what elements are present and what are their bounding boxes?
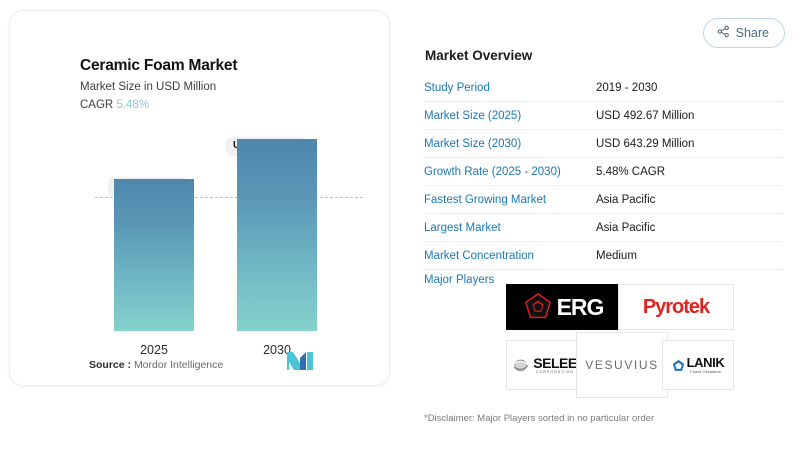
- table-row: Market Concentration Medium: [424, 242, 782, 270]
- vesuvius-wordmark: VESUVIUS: [585, 358, 659, 372]
- row-key: Growth Rate (2025 - 2030): [424, 166, 596, 178]
- bar-2025[interactable]: [114, 179, 194, 331]
- table-row: Market Size (2025) USD 492.67 Million: [424, 102, 782, 130]
- page-title: Ceramic Foam Market: [80, 57, 237, 75]
- bar-2030[interactable]: [237, 139, 317, 331]
- share-button[interactable]: Share: [703, 18, 785, 48]
- pyrotek-logo: Pyrotek: [618, 284, 734, 330]
- row-value: Asia Pacific: [596, 194, 655, 206]
- row-key: Largest Market: [424, 222, 596, 234]
- source-value: Mordor Intelligence: [134, 359, 223, 371]
- table-row: Market Size (2030) USD 643.29 Million: [424, 130, 782, 158]
- selee-sphere-icon: [513, 358, 530, 373]
- row-value: USD 492.67 Million: [596, 110, 694, 122]
- table-row: Largest Market Asia Pacific: [424, 214, 782, 242]
- row-key: Market Concentration: [424, 250, 596, 262]
- lanik-star-icon: [672, 359, 685, 372]
- selee-wordmark: SELEE: [533, 356, 576, 370]
- row-value: 2019 - 2030: [596, 82, 657, 94]
- vesuvius-logo: VESUVIUS: [576, 332, 668, 398]
- pyrotek-wordmark: Pyrotek: [643, 296, 709, 319]
- table-row: Fastest Growing Market Asia Pacific: [424, 186, 782, 214]
- row-value: 5.48% CAGR: [596, 166, 665, 178]
- cagr-label: CAGR: [80, 99, 113, 111]
- row-value: Asia Pacific: [596, 222, 655, 234]
- market-overview-table: Study Period 2019 - 2030 Market Size (20…: [424, 74, 782, 270]
- bar-chart-plot: USD 492.67 M USD 643.29 M 2025 2030: [30, 123, 371, 363]
- share-nodes-icon: [717, 25, 730, 41]
- row-key: Fastest Growing Market: [424, 194, 596, 206]
- row-value: USD 643.29 Million: [596, 138, 694, 150]
- source-text: Source : Mordor Intelligence: [89, 359, 223, 371]
- table-row: Study Period 2019 - 2030: [424, 74, 782, 102]
- row-key: Study Period: [424, 82, 596, 94]
- chart-cagr: CAGR 5.48%: [80, 99, 149, 111]
- lanik-wordmark: LANIK: [687, 356, 725, 369]
- table-row: Growth Rate (2025 - 2030) 5.48% CAGR: [424, 158, 782, 186]
- lanik-subtitle: Foam Ceramics: [687, 369, 725, 374]
- lanik-logo: LANIK Foam Ceramics: [662, 340, 734, 390]
- source-label: Source :: [89, 359, 131, 371]
- erg-wordmark: ERG: [557, 294, 604, 321]
- major-players-label: Major Players: [424, 274, 494, 286]
- selee-logo: SELEE CORPORATION: [506, 340, 584, 390]
- row-value: Medium: [596, 250, 637, 262]
- row-key: Market Size (2025): [424, 110, 596, 122]
- selee-subtitle: CORPORATION: [533, 370, 576, 374]
- erg-logo: ERG: [506, 284, 620, 330]
- overview-title: Market Overview: [425, 48, 532, 63]
- cagr-value: 5.48%: [116, 99, 149, 111]
- chart-card: Ceramic Foam Market Market Size in USD M…: [9, 10, 390, 386]
- chart-subtitle: Market Size in USD Million: [80, 81, 216, 93]
- disclaimer-text: *Disclaimer: Major Players sorted in no …: [424, 413, 654, 424]
- major-players-logo-grid: ERG Pyrotek SELEE CORPORATION VESUVIUS: [506, 284, 732, 396]
- row-key: Market Size (2030): [424, 138, 596, 150]
- erg-emblem-icon: [523, 292, 553, 322]
- x-axis-label-2025: 2025: [114, 343, 194, 357]
- share-button-label: Share: [736, 26, 769, 40]
- mordor-intelligence-logo: [287, 352, 313, 375]
